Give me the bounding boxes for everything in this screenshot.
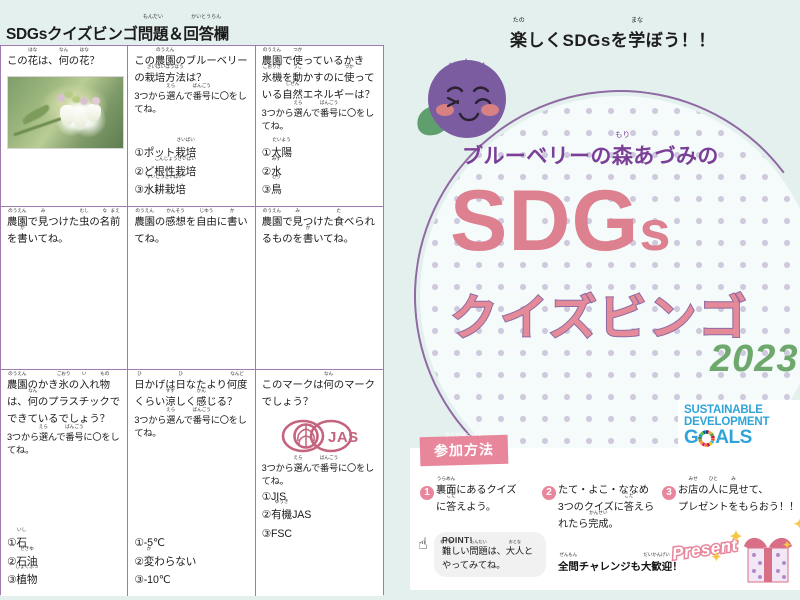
question-instruction: 3つからえら選んでばんごう番号に〇をしてね。 <box>262 107 377 133</box>
join-step-2: 2たて・よこ・ななめ 3つのクイズにこた答えら れたらかんせい完成。 <box>542 480 664 533</box>
sparkle-1: ✦ <box>710 548 723 566</box>
ruby-hana: はな <box>28 48 37 53</box>
step-2-line-3: れたらかんせい完成。 <box>558 517 664 534</box>
question-instruction: 3つからえら選んでばんごう番号に〇をしてね。 <box>262 462 377 488</box>
gift-ribbon-left <box>744 538 767 549</box>
join-step-1: 1うらめん裏面にあるクイズ にこた答えよう。 <box>420 480 545 517</box>
point-text: むずか難しいもんだい問題は、おとな大人とやってみてね。 <box>442 545 540 573</box>
join-step-3: 3おみせ店のひと人にみ見せて、 プレゼントをもらおう！！ <box>662 480 800 517</box>
step-3-number: 3 <box>662 486 676 500</box>
ruby-mondai: もんだい <box>143 15 163 20</box>
sparkle-3: ✦ <box>792 512 800 537</box>
bingo-grid: このはな花は、なん何のはな花？ こののうえん農園のブルーベリーのさいばいほうほう… <box>0 45 384 595</box>
sdgs-logo: SUSTAINABLE DEVELOPMENT G <box>678 400 800 448</box>
sdgs-line-1: SUSTAINABLE <box>684 404 800 416</box>
step-1-line-2: にこた答えよう。 <box>436 500 545 517</box>
mascot-cheek-right <box>481 104 499 116</box>
point-label: POINT! <box>442 535 540 545</box>
step-2-line-2: 3つのクイズにこた答えら <box>558 500 664 517</box>
question-instruction: 3つからえら選んでばんごう番号に〇をしてね。 <box>134 414 248 440</box>
option-3[interactable]: ③すいこうさいばい水耕栽培 <box>134 181 248 200</box>
page-title-sdgs: SDGs <box>6 26 47 43</box>
how-to-join-card: さんかほうほう参加方法 1うらめん裏面にあるクイズ にこた答えよう。 2たて・よ… <box>410 448 800 590</box>
poster-main-title-s: s <box>639 199 671 262</box>
ruby-kaitouran: かいとうらん <box>191 15 221 20</box>
options-list: ①いし石 ②せきゆ石油 ③しょくぶつ植物 <box>7 534 121 590</box>
bingo-cell-1[interactable]: このはな花は、なん何のはな花？ <box>1 46 128 207</box>
bingo-cell-4[interactable]: のうえん農園でみ見つけたむし虫のな名まえ前をか書いてね。 <box>1 207 128 370</box>
bingo-cell-2[interactable]: こののうえん農園のブルーベリーのさいばいほうほう栽培方法は？ 3つからえら選んで… <box>128 46 255 207</box>
question-text: のうえん農園のかきごおり氷のい入れもの物は、なん何のプラスチックでできているでし… <box>7 378 121 429</box>
question-text: ひ日かげはひ日なたよりなんど何度くらいすず涼しくかん感じる？ <box>134 378 248 412</box>
options-list: ①たいよう太陽 ②みず水 ③とり鳥 <box>262 144 377 200</box>
page-title-mondai: もんだい問題 <box>138 22 168 44</box>
ruby-mori: もり <box>615 131 630 139</box>
sdgs-als: ALS <box>715 428 752 448</box>
option-3[interactable]: ③しょくぶつ植物 <box>7 571 121 590</box>
bingo-cell-6[interactable]: のうえん農園でみ見つけたた食べられるものをか書いてね。 <box>256 207 383 370</box>
bingo-cell-9[interactable]: このマークはなん何のマークでしょう？ JAS 3つからえら選んで <box>256 370 383 596</box>
options-list: ①JIS ②ゆうき有機JAS ③FSC <box>262 488 377 544</box>
bingo-cell-5[interactable]: のうえん農園のかんそう感想をじゆう自由にか書いてね。 <box>128 207 255 370</box>
options-list: ①-5℃ ②か変わらない ③-10℃ <box>134 534 248 590</box>
poster-panel: たの楽しくSDGsをまな学ぼう！！ ブルーベリーのもり森あづみの SDGs クイ… <box>400 0 800 600</box>
bingo-sheet-panel: SDGsクイズビンゴもんだい問題＆かいとうらん回答欄 このはな花は、なん何のはな… <box>0 0 400 600</box>
mascot-cheek-left <box>436 104 454 116</box>
step-3-line-2: プレゼントをもらおう！！ <box>678 500 800 517</box>
jas-organic-mark: JAS <box>273 416 365 456</box>
question-text: のうえん農園でみ見つけたむし虫のな名まえ前をか書いてね。 <box>7 215 121 249</box>
step-2-number: 2 <box>542 486 556 500</box>
mascot-body <box>428 60 506 138</box>
option-2[interactable]: ②か変わらない <box>134 553 248 572</box>
poster-main-title: SDGs <box>450 178 672 264</box>
ruby-hana2: はな <box>80 48 89 53</box>
ruby-nouen: のうえん <box>156 48 174 53</box>
photo-bud-3 <box>92 97 100 105</box>
question-instruction: 3つからえら選んでばんごう番号に〇をしてね。 <box>134 90 248 116</box>
bingo-cell-3[interactable]: のうえん農園でつか使っているかきごおりき氷機をうご動かすのにつか使っているしぜん… <box>256 46 383 207</box>
poster-year: 2023 <box>710 338 799 381</box>
all-questions-challenge-text: ぜんもん全問チャレンジもだいかんげい大歓迎！ <box>558 558 683 573</box>
sdgs-g: G <box>684 428 698 448</box>
pointing-hand-icon: ☝ <box>418 534 428 554</box>
question-text: のうえん農園のかんそう感想をじゆう自由にか書いてね。 <box>134 215 248 249</box>
page-title-quiz: クイズビンゴ <box>47 26 138 43</box>
question-text: このマークはなん何のマークでしょう？ <box>262 378 377 412</box>
page-title-kaitouran: かいとうらん回答欄 <box>183 22 229 44</box>
question-text: こののうえん農園のブルーベリーのさいばいほうほう栽培方法は？ <box>134 54 248 88</box>
photo-bud-1 <box>57 94 65 102</box>
poster-subtitle: ブルーベリーのもり森あづみの <box>462 140 719 170</box>
join-badge: さんかほうほう参加方法 <box>420 435 509 466</box>
photo-bell-3 <box>86 104 101 122</box>
bingo-cell-7[interactable]: のうえん農園のかきごおり氷のい入れもの物は、なん何のプラスチックでできているでし… <box>1 370 128 596</box>
poster-kana-title: クイズビンゴ <box>450 278 749 348</box>
option-3[interactable]: ③FSC <box>262 525 377 544</box>
question-instruction: 3つからえら選んでばんごう番号に〇をしてね。 <box>7 431 121 457</box>
ruby-nan: なん <box>59 48 68 53</box>
sparkle-2: ✦ <box>728 526 744 549</box>
question-text: のうえん農園でつか使っているかきごおりき氷機をうご動かすのにつか使っているしぜん… <box>262 54 377 105</box>
sdgs-line-3: G <box>684 428 800 448</box>
sparkle-4: ✦ <box>782 538 792 552</box>
options-list: ①ポットさいばい栽培 ②どこんじょうさいばい根性栽培 ③すいこうさいばい水耕栽培 <box>134 144 248 200</box>
ruby-sankahouhou: さんかほうほう <box>444 432 483 439</box>
blueberry-flower-photo <box>7 76 124 149</box>
bingo-cell-8[interactable]: ひ日かげはひ日なたよりなんど何度くらいすず涼しくかん感じる？ 3つからえら選んで… <box>128 370 255 596</box>
ruby-tano: たの <box>513 18 525 24</box>
photo-bud-2 <box>80 97 88 105</box>
question-text: のうえん農園でみ見つけたた食べられるものをか書いてね。 <box>262 215 377 249</box>
step-2-line-1: たて・よこ・ななめ <box>558 485 649 496</box>
ruby-mana: まな <box>631 18 643 24</box>
option-2[interactable]: ②ゆうき有機JAS <box>262 506 377 525</box>
page-title: SDGsクイズビンゴもんだい問題＆かいとうらん回答欄 <box>6 22 229 44</box>
ruby-saibaihouhou: さいばいほうほう <box>147 65 184 70</box>
point-bubble: POINT! むずか難しいもんだい問題は、おとな大人とやってみてね。 <box>434 532 546 577</box>
question-text: このはな花は、なん何のはな花？ <box>7 54 121 71</box>
step-1-number: 1 <box>420 486 434 500</box>
svg-text:JAS: JAS <box>328 429 359 446</box>
option-3[interactable]: ③とり鳥 <box>262 181 377 200</box>
step-3-line-1: おみせ店のひと人にみ見せて、 <box>678 485 768 496</box>
gift-band <box>764 548 772 582</box>
option-3[interactable]: ③-10℃ <box>134 571 248 590</box>
sdgs-color-wheel-icon <box>698 430 715 447</box>
